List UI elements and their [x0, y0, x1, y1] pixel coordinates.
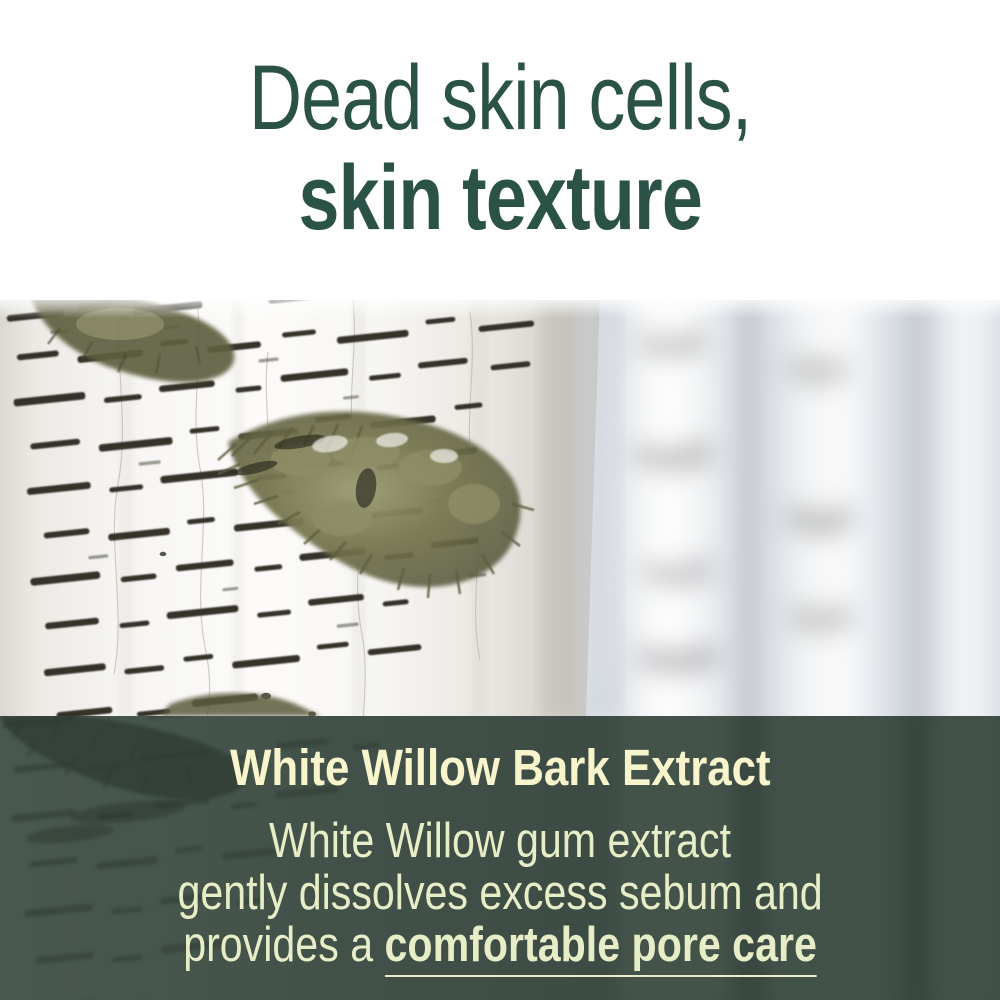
- header-band: Dead skin cells, skin texture: [0, 0, 1000, 300]
- description-line-3-prefix: provides a: [183, 918, 384, 972]
- birch-bark-illustration: [0, 292, 1000, 716]
- description-line-2: gently dissolves excess sebum and: [177, 867, 822, 919]
- ingredient-overlay-panel: White Willow Bark Extract White Willow g…: [0, 716, 1000, 1000]
- birch-bark-photo: [0, 292, 1000, 716]
- description-emphasis: comfortable pore care: [384, 918, 816, 977]
- ingredient-description: White Willow gum extract gently dissolve…: [116, 815, 884, 971]
- product-marketing-image: Dead skin cells, skin texture: [0, 0, 1000, 1000]
- headline-line-2: skin texture: [298, 152, 702, 244]
- headline-line-1: Dead skin cells,: [249, 52, 752, 144]
- ingredient-title: White Willow Bark Extract: [230, 742, 771, 793]
- description-line-1: White Willow gum extract: [177, 815, 822, 867]
- birch-trunk-foreground: [0, 292, 615, 716]
- description-line-3: provides a comfortable pore care: [177, 919, 822, 971]
